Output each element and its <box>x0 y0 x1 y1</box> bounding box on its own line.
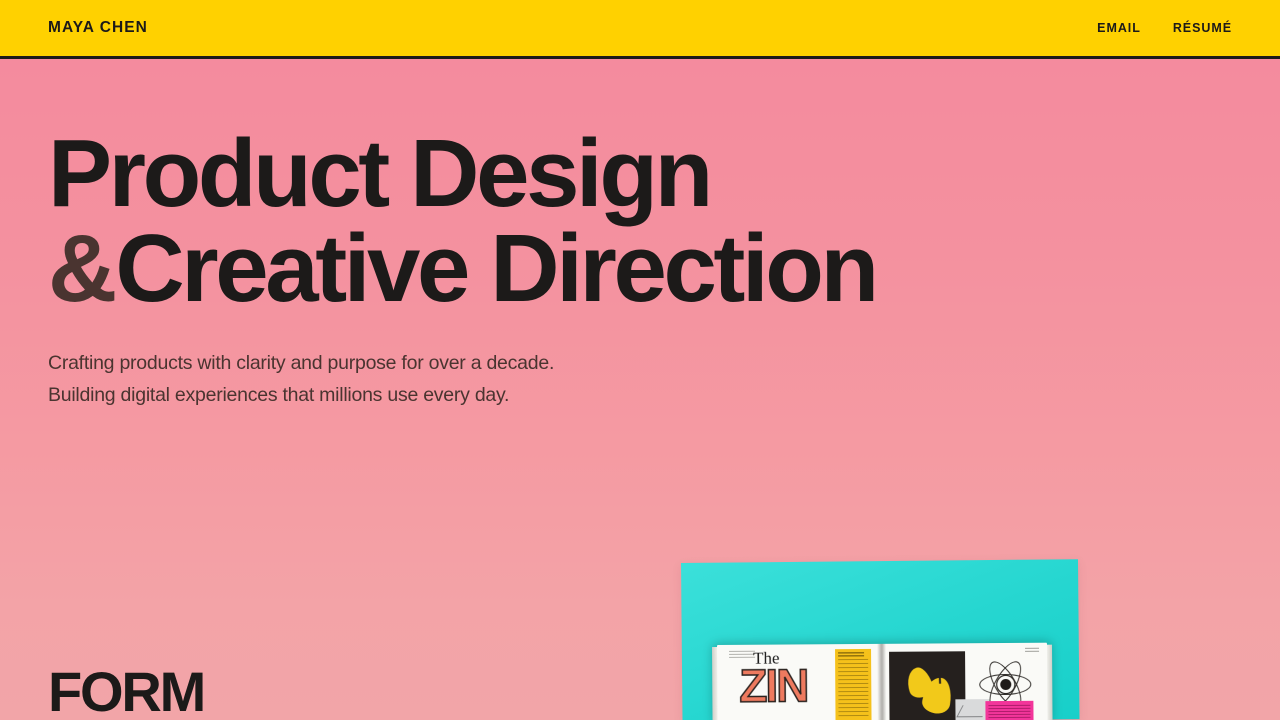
headline-line-2: &Creative Direction <box>48 221 876 316</box>
atom-nucleus <box>1000 678 1011 689</box>
page-background: MAYA CHEN EMAIL RÉSUMÉ Product Design &C… <box>0 0 1280 720</box>
top-navigation-bar: MAYA CHEN EMAIL RÉSUMÉ <box>0 0 1280 59</box>
page-number-marks <box>1025 648 1039 652</box>
magazine-spine <box>877 644 887 720</box>
yellow-column-body-text <box>838 659 868 717</box>
grey-note-scribble <box>956 705 988 717</box>
showcase-media[interactable]: The ZIN <box>681 563 1078 720</box>
section-heading-form: FORM <box>48 664 204 720</box>
headline-line-1: Product Design <box>48 126 876 221</box>
page-title: Product Design &Creative Direction <box>48 126 876 316</box>
subhead-line-2: Building digital experiences that millio… <box>48 380 876 412</box>
left-page-micro-heading <box>729 651 755 658</box>
hero-subhead: Crafting products with clarity and purpo… <box>48 348 876 411</box>
magazine-yellow-column <box>835 649 872 720</box>
magazine-title-zin: ZIN <box>739 662 807 708</box>
nav-link-resume[interactable]: RÉSUMÉ <box>1173 21 1232 35</box>
nav-links: EMAIL RÉSUMÉ <box>1097 21 1232 35</box>
headline-ampersand: & <box>48 215 115 322</box>
hero-section: Product Design &Creative Direction Craft… <box>48 126 876 411</box>
nav-link-email[interactable]: EMAIL <box>1097 21 1141 35</box>
magazine-photo: The ZIN <box>717 643 1048 720</box>
magazine-edge-right <box>1047 645 1053 720</box>
yellow-column-title <box>838 652 864 657</box>
magazine-right-page <box>881 643 1048 720</box>
headline-line-2-text: Creative Direction <box>115 215 875 322</box>
brand-name[interactable]: MAYA CHEN <box>48 19 148 37</box>
magazine-pink-note <box>985 701 1033 720</box>
subhead-line-1: Crafting products with clarity and purpo… <box>48 348 876 380</box>
pink-note-text-lines <box>988 705 1030 720</box>
magazine-black-panel <box>889 651 966 720</box>
magazine-left-page: The ZIN <box>717 644 882 720</box>
